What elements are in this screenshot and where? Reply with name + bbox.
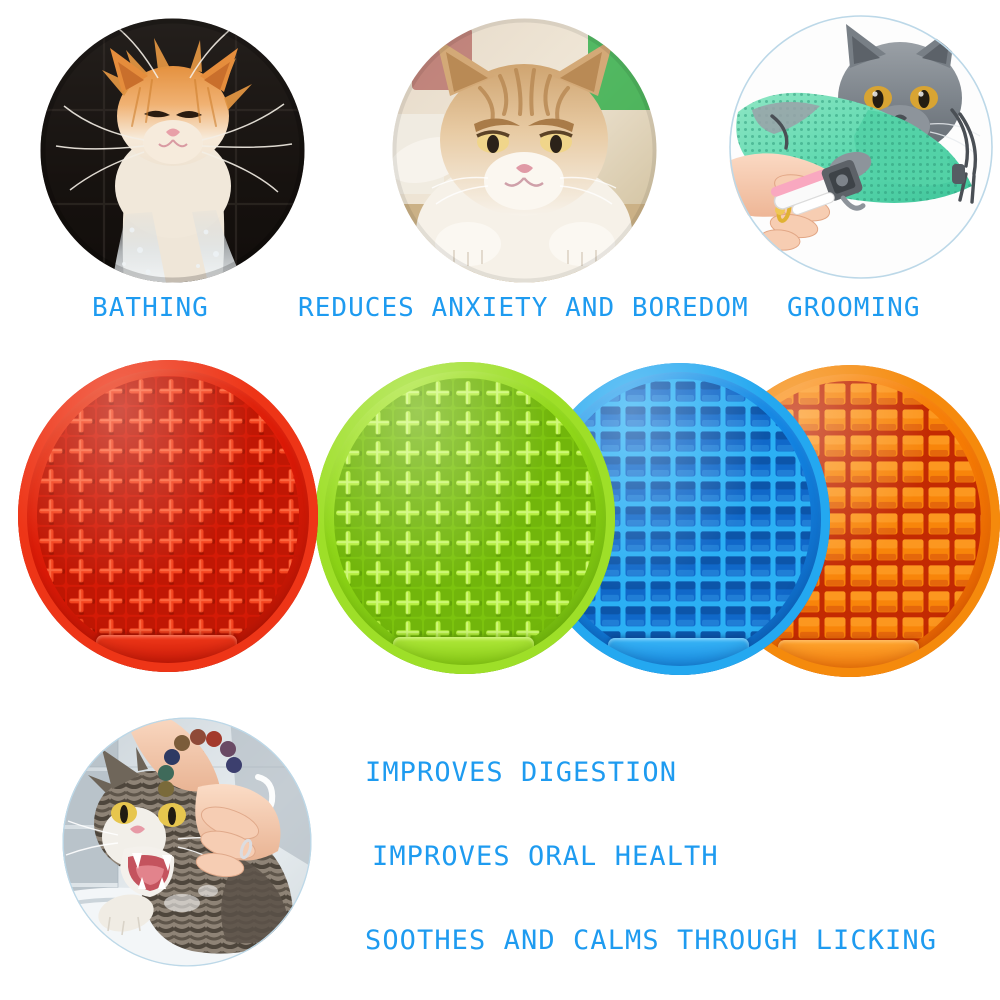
grumpy-cat-illustration <box>392 18 657 283</box>
caption-improves-oral-health: IMPROVES ORAL HEALTH <box>372 841 719 872</box>
caption-grooming: GROOMING <box>787 293 921 323</box>
photo-grooming-cat-image <box>728 14 994 280</box>
photo-yowling-cat <box>62 717 312 967</box>
grooming-cat-illustration <box>728 14 994 280</box>
photo-yowling-cat-image <box>62 717 312 967</box>
product-feature-collage: BATHING REDUCES ANXIETY AND BOREDOM GROO… <box>0 0 1000 1000</box>
mat-green-handle-tab <box>393 637 534 671</box>
mat-green-texture <box>333 378 597 659</box>
mat-red-body <box>18 360 318 672</box>
bathing-cat-illustration <box>40 18 305 283</box>
mat-green <box>315 362 615 674</box>
mat-red-handle-tab <box>96 635 237 669</box>
photo-bathing-cat-image <box>40 18 305 283</box>
caption-soothes-and-calms-through-licking: SOOTHES AND CALMS THROUGH LICKING <box>365 925 937 956</box>
photo-grumpy-cat <box>392 18 657 283</box>
photo-grooming-cat <box>728 14 994 280</box>
mat-green-body <box>315 362 615 674</box>
mat-blue-handle-tab <box>608 638 749 672</box>
yowling-cat-illustration <box>62 717 312 967</box>
caption-reduces-anxiety-and-boredom: REDUCES ANXIETY AND BOREDOM <box>298 293 749 323</box>
mat-red <box>18 360 318 672</box>
photo-grumpy-cat-image <box>392 18 657 283</box>
mat-red-texture <box>36 376 300 657</box>
caption-bathing: BATHING <box>92 293 209 323</box>
photo-bathing-cat <box>40 18 305 283</box>
caption-improves-digestion: IMPROVES DIGESTION <box>365 757 677 788</box>
